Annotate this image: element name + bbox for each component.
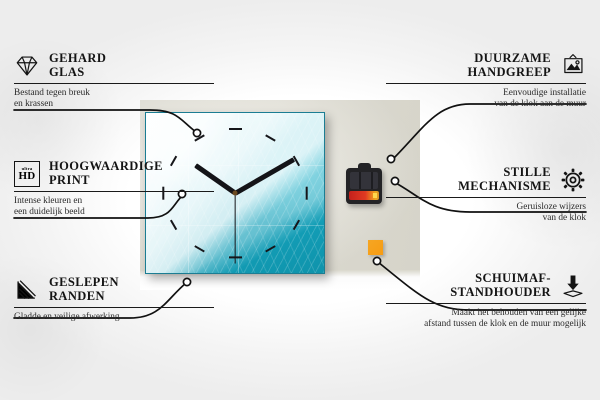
press-down-icon	[560, 273, 586, 299]
feature-title-line1: SCHUIMAF-	[450, 272, 551, 286]
feature-duurzame-handgreep: DUURZAME HANDGREEP Eenvoudige installati…	[386, 52, 586, 110]
ultra-hd-icon-bottom: HD	[19, 171, 36, 182]
feature-title-line1: HOOGWAARDIGE	[49, 160, 163, 174]
feature-title: SCHUIMAF- STANDHOUDER	[450, 272, 551, 299]
feature-desc-line1: Maakt het behouden van een gelijke	[386, 308, 586, 319]
mechanism-hanger-tab	[358, 163, 371, 170]
feature-desc-line2: en krassen	[14, 99, 214, 110]
feature-heading: GEHARD GLAS	[14, 52, 214, 79]
clock-center-cap	[233, 191, 238, 196]
feature-desc-line1: Gladde en veilige afwerking	[14, 312, 214, 323]
feature-desc-line2: van de klok	[386, 213, 586, 224]
feature-divider	[386, 303, 586, 304]
feature-title-line2: PRINT	[49, 174, 163, 188]
feature-divider	[14, 307, 214, 308]
feature-desc-line2: van de klok aan de muur	[386, 99, 586, 110]
feature-title-line2: GLAS	[49, 66, 106, 80]
clock-hour-marker	[229, 128, 242, 130]
hatched-edge-icon	[14, 277, 40, 303]
feature-title-line1: GESLEPEN	[49, 276, 119, 290]
mechanism-battery	[349, 191, 379, 200]
feature-heading: GESLEPEN RANDEN	[14, 276, 214, 303]
feature-heading: STILLE MECHANISME	[386, 166, 586, 193]
feature-description: Eenvoudige installatie van de klok aan d…	[386, 88, 586, 110]
feature-geslepen-randen: GESLEPEN RANDEN Gladde en veilige afwerk…	[14, 276, 214, 323]
feature-stille-mechanisme: STILLE MECHANISME	[386, 166, 586, 224]
infographic-canvas: GEHARD GLAS Bestand tegen breuk en krass…	[0, 0, 600, 400]
feature-desc-line2: een duidelijk beeld	[14, 207, 214, 218]
feature-title-line2: MECHANISME	[458, 180, 551, 194]
feature-schuimaf-standhouder: SCHUIMAF- STANDHOUDER Maakt het behouden…	[386, 272, 586, 330]
feature-description: Gladde en veilige afwerking	[14, 312, 214, 323]
feature-desc-line1: Intense kleuren en	[14, 196, 214, 207]
diamond-icon	[14, 53, 40, 79]
feature-title: GEHARD GLAS	[49, 52, 106, 79]
feature-title-line2: HANDGREEP	[468, 66, 551, 80]
feature-title: HOOGWAARDIGE PRINT	[49, 160, 163, 187]
clock-mechanism	[346, 168, 382, 204]
mechanism-body	[350, 172, 378, 189]
clock-second-hand	[234, 193, 235, 264]
wire-duurzame-handgreep	[392, 104, 586, 160]
feature-gehard-glas: GEHARD GLAS Bestand tegen breuk en krass…	[14, 52, 214, 110]
feature-title: STILLE MECHANISME	[458, 166, 551, 193]
feature-title-line2: STANDHOUDER	[450, 286, 551, 300]
feature-heading: DUURZAME HANDGREEP	[386, 52, 586, 79]
feature-hoogwaardige-print: ultra HD HOOGWAARDIGE PRINT Intense kleu…	[14, 160, 214, 218]
feature-desc-line2: afstand tussen de klok en de muur mogeli…	[386, 319, 586, 330]
clock-hour-marker	[305, 186, 307, 199]
feature-heading: ultra HD HOOGWAARDIGE PRINT	[14, 160, 214, 187]
feature-description: Geruisloze wijzers van de klok	[386, 202, 586, 224]
feature-title-line2: RANDEN	[49, 290, 119, 304]
framed-picture-icon	[560, 53, 586, 79]
feature-heading: SCHUIMAF- STANDHOUDER	[386, 272, 586, 299]
gear-icon	[560, 167, 586, 193]
feature-title-line1: DUURZAME	[468, 52, 551, 66]
feature-description: Maakt het behouden van een gelijke afsta…	[386, 308, 586, 330]
foam-spacer	[368, 240, 383, 255]
feature-desc-line1: Bestand tegen breuk	[14, 88, 214, 99]
ultra-hd-icon: ultra HD	[14, 161, 40, 187]
feature-divider	[386, 197, 586, 198]
feature-desc-line1: Eenvoudige installatie	[386, 88, 586, 99]
feature-description: Bestand tegen breuk en krassen	[14, 88, 214, 110]
feature-desc-line1: Geruisloze wijzers	[386, 202, 586, 213]
feature-title-line1: STILLE	[458, 166, 551, 180]
feature-title-line1: GEHARD	[49, 52, 106, 66]
feature-description: Intense kleuren en een duidelijk beeld	[14, 196, 214, 218]
feature-divider	[14, 191, 214, 192]
feature-divider	[14, 83, 214, 84]
feature-title: GESLEPEN RANDEN	[49, 276, 119, 303]
feature-divider	[386, 83, 586, 84]
feature-title: DUURZAME HANDGREEP	[468, 52, 551, 79]
